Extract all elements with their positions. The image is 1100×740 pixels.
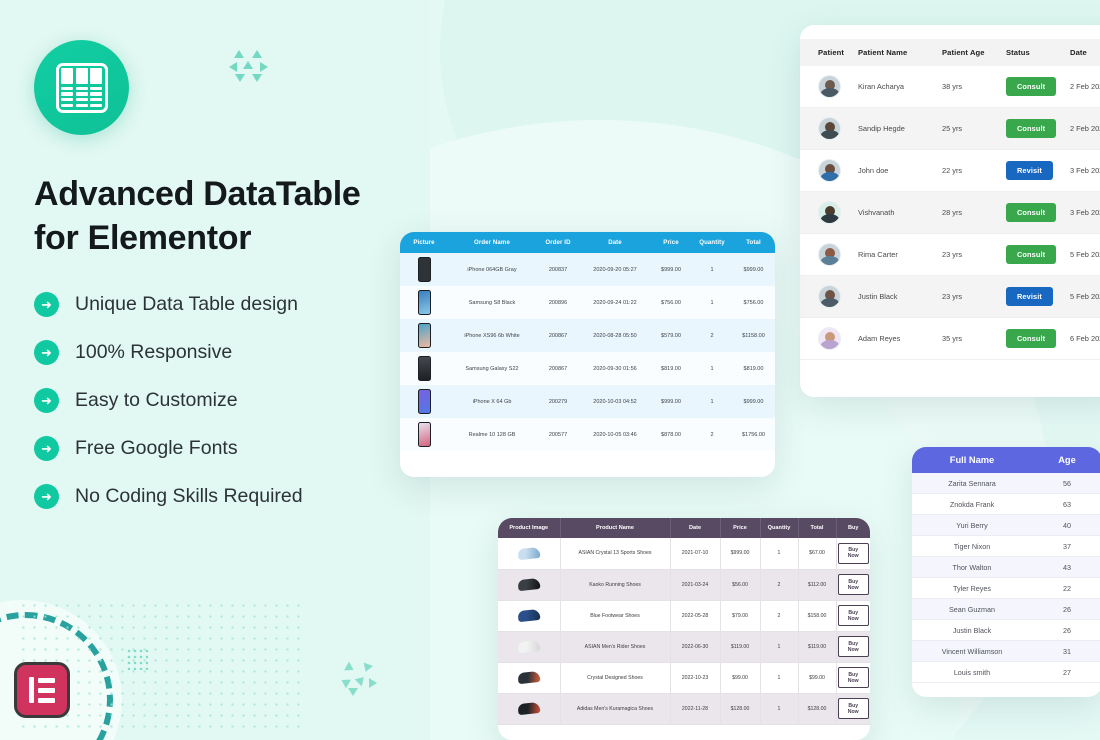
cell-quantity: 1 [760, 662, 798, 693]
cell-price: $999.00 [650, 385, 692, 418]
feature-item-2: ➜ Easy to Customize [34, 388, 454, 413]
cell-product-name: ASIAN Crystal 13 Sports Shoes [560, 538, 670, 569]
feature-label: Free Google Fonts [75, 437, 238, 460]
decorative-sparkle-small [126, 648, 148, 670]
patient-table: Patient Patient Name Patient Age Status … [800, 39, 1100, 360]
cell-total: $1756.00 [732, 418, 775, 451]
cell-quantity: 2 [692, 319, 732, 352]
buy-now-button[interactable]: Buy Now [838, 605, 870, 626]
product-thumbnail [517, 702, 540, 715]
status-badge[interactable]: Consult [1006, 203, 1056, 222]
table-header-row: Full Name Age [912, 447, 1100, 473]
feature-list: ➜ Unique Data Table design ➜ 100% Respon… [34, 292, 454, 509]
cell-age: 43 [1032, 557, 1100, 578]
cell-quantity: 1 [692, 253, 732, 286]
buy-now-button[interactable]: Buy Now [838, 698, 870, 719]
cell-quantity: 1 [760, 631, 798, 662]
avatar [818, 285, 841, 308]
order-table-card: Picture Order Name Order ID Date Price Q… [400, 232, 775, 477]
avatar [818, 327, 841, 350]
col-total: Total [798, 518, 836, 538]
table-row[interactable]: Sandip Hegde 25 yrs Consult 2 Feb 2022 [800, 108, 1100, 150]
cell-full-name: Sean Guzman [912, 599, 1032, 620]
cell-date: 2020-08-28 05:50 [580, 319, 650, 352]
cell-name: Justin Black [858, 276, 942, 318]
table-header-row: Picture Order Name Order ID Date Price Q… [400, 232, 775, 253]
cell-price: $878.00 [650, 418, 692, 451]
cell-total: $819.00 [732, 352, 775, 385]
page-title: Advanced DataTable for Elementor [34, 173, 454, 260]
cell-date: 2020-09-30 01:56 [580, 352, 650, 385]
col-quantity: Quantity [760, 518, 798, 538]
cell-date: 2021-03-24 [670, 569, 720, 600]
table-row[interactable]: Louis smith 27 [912, 662, 1100, 683]
cell-order-id: 200896 [536, 286, 580, 319]
avatar [818, 117, 841, 140]
cell-order-name: iPhone 064GB Gray [448, 253, 536, 286]
cell-price: $128.00 [720, 693, 760, 724]
cell-age: 22 [1032, 578, 1100, 599]
names-table: Full Name Age Zarita Sennara 56 Znokda F… [912, 447, 1100, 683]
col-price: Price [650, 232, 692, 253]
table-row[interactable]: ASIAN Men's Rider Shoes 2022-06-30 $119.… [498, 631, 870, 662]
cell-date: 3 Feb 2022 [1070, 150, 1100, 192]
col-order-id: Order ID [536, 232, 580, 253]
table-row[interactable]: Zarita Sennara 56 [912, 473, 1100, 494]
cell-full-name: Louis smith [912, 662, 1032, 683]
cell-age: 31 [1032, 641, 1100, 662]
cell-order-name: Samsung S8 Black [448, 286, 536, 319]
cell-date: 2 Feb 2022 [1070, 66, 1100, 108]
col-quantity: Quantity [692, 232, 732, 253]
buy-now-button[interactable]: Buy Now [838, 574, 870, 595]
cell-date: 5 Feb 2022 [1070, 276, 1100, 318]
cell-total: $999.00 [732, 385, 775, 418]
cell-quantity: 2 [760, 569, 798, 600]
table-row[interactable]: Samsung S8 Black 200896 2020-09-24 01:22… [400, 286, 775, 319]
cell-date: 2020-09-24 01:22 [580, 286, 650, 319]
table-header-row: Patient Patient Name Patient Age Status … [800, 39, 1100, 66]
cell-name: Kiran Acharya [858, 66, 942, 108]
order-table: Picture Order Name Order ID Date Price Q… [400, 232, 775, 451]
cell-age: 23 yrs [942, 276, 1006, 318]
cell-name: John doe [858, 150, 942, 192]
table-row[interactable]: iPhone 064GB Gray 200837 2020-09-20 05:2… [400, 253, 775, 286]
feature-item-4: ➜ No Coding Skills Required [34, 484, 454, 509]
status-badge[interactable]: Consult [1006, 77, 1056, 96]
cell-product-name: ASIAN Men's Rider Shoes [560, 631, 670, 662]
elementor-logo-icon [14, 662, 70, 718]
product-thumbnail [418, 290, 431, 315]
table-row[interactable]: iPhone X 64 Gb 200279 2020-10-03 04:52 $… [400, 385, 775, 418]
col-total: Total [732, 232, 775, 253]
hero-section: Advanced DataTable for Elementor ➜ Uniqu… [34, 40, 454, 532]
product-thumbnail [418, 356, 431, 381]
product-thumbnail [418, 257, 431, 282]
cell-date: 5 Feb 2022 [1070, 234, 1100, 276]
product-thumbnail [418, 422, 431, 447]
col-buy: Buy [836, 518, 870, 538]
cell-date: 2020-10-03 04:52 [580, 385, 650, 418]
cell-full-name: Znokda Frank [912, 494, 1032, 515]
cell-date: 3 Feb 2022 [1070, 192, 1100, 234]
table-row[interactable]: Kiran Acharya 38 yrs Consult 2 Feb 2022 [800, 66, 1100, 108]
table-row[interactable]: Vincent Williamson 31 [912, 641, 1100, 662]
cell-quantity: 1 [692, 286, 732, 319]
status-badge[interactable]: Revisit [1006, 161, 1053, 180]
product-thumbnail [517, 609, 540, 622]
cell-order-name: iPhone X 64 Gb [448, 385, 536, 418]
col-date: Date [670, 518, 720, 538]
cell-product-name: Blue Footwear Shoes [560, 600, 670, 631]
col-date: Date [580, 232, 650, 253]
buy-now-button[interactable]: Buy Now [838, 636, 870, 657]
cell-date: 6 Feb 2022 [1070, 318, 1100, 360]
cell-full-name: Vincent Williamson [912, 641, 1032, 662]
cell-full-name: Tiger Nixon [912, 536, 1032, 557]
table-row[interactable]: Thor Walton 43 [912, 557, 1100, 578]
product-thumbnail [517, 640, 540, 653]
buy-now-button[interactable]: Buy Now [838, 543, 870, 564]
cell-date: 2021-07-10 [670, 538, 720, 569]
arrow-right-circle-icon: ➜ [34, 388, 59, 413]
col-picture: Picture [400, 232, 448, 253]
status-badge[interactable]: Revisit [1006, 287, 1053, 306]
cell-total: $128.00 [798, 693, 836, 724]
cell-date: 2022-06-30 [670, 631, 720, 662]
cell-total: $112.00 [798, 569, 836, 600]
arrow-right-circle-icon: ➜ [34, 436, 59, 461]
cell-full-name: Yuri Berry [912, 515, 1032, 536]
cell-age: 63 [1032, 494, 1100, 515]
cell-total: $158.00 [798, 600, 836, 631]
cell-age: 38 yrs [942, 66, 1006, 108]
table-row[interactable]: Sean Guzman 26 [912, 599, 1100, 620]
table-row[interactable]: Samsung Galaxy S22 200867 2020-09-30 01:… [400, 352, 775, 385]
cell-name: Rima Carter [858, 234, 942, 276]
arrow-right-circle-icon: ➜ [34, 292, 59, 317]
cell-price: $119.00 [720, 631, 760, 662]
table-row[interactable]: Tiger Nixon 37 [912, 536, 1100, 557]
cell-age: 25 yrs [942, 108, 1006, 150]
cell-date: 2022-10-23 [670, 662, 720, 693]
cell-age: 56 [1032, 473, 1100, 494]
patient-table-card: Patient Patient Name Patient Age Status … [800, 25, 1100, 397]
cell-quantity: 1 [760, 693, 798, 724]
cell-product-name: Crystal Designed Shoes [560, 662, 670, 693]
buy-now-button[interactable]: Buy Now [838, 667, 870, 688]
decorative-triangle-cluster-bottom [340, 664, 380, 698]
table-row[interactable]: Znokda Frank 63 [912, 494, 1100, 515]
cell-quantity: 1 [760, 538, 798, 569]
col-order-name: Order Name [448, 232, 536, 253]
table-row[interactable]: Tyler Reyes 22 [912, 578, 1100, 599]
table-row[interactable]: Yuri Berry 40 [912, 515, 1100, 536]
page-title-line-1: Advanced DataTable [34, 173, 454, 217]
cell-date: 2020-09-20 05:27 [580, 253, 650, 286]
cell-quantity: 1 [692, 385, 732, 418]
avatar [818, 75, 841, 98]
table-header-row: Product Image Product Name Date Price Qu… [498, 518, 870, 538]
col-status: Status [1006, 39, 1070, 66]
cell-order-name: Samsung Galaxy S22 [448, 352, 536, 385]
feature-label: Easy to Customize [75, 389, 238, 412]
table-row[interactable]: Vishvanath 28 yrs Consult 3 Feb 2022 [800, 192, 1100, 234]
feature-item-0: ➜ Unique Data Table design [34, 292, 454, 317]
cell-price: $756.00 [650, 286, 692, 319]
cell-name: Vishvanath [858, 192, 942, 234]
table-grid-icon [56, 63, 108, 113]
cell-full-name: Zarita Sennara [912, 473, 1032, 494]
col-patient-name: Patient Name [858, 39, 942, 66]
cell-age: 27 [1032, 662, 1100, 683]
table-row[interactable]: Rima Carter 23 yrs Consult 5 Feb 2022 [800, 234, 1100, 276]
patient-table-body: Kiran Acharya 38 yrs Consult 2 Feb 2022 … [800, 66, 1100, 360]
product-thumbnail [517, 578, 540, 591]
cell-date: 2022-11-28 [670, 693, 720, 724]
cell-order-id: 200867 [536, 352, 580, 385]
cell-age: 37 [1032, 536, 1100, 557]
cell-product-name: Adidas Men's Kuramagica Shoes [560, 693, 670, 724]
table-row[interactable]: iPhone XS96 6b White 200867 2020-08-28 0… [400, 319, 775, 352]
product-table-body: ASIAN Crystal 13 Sports Shoes 2021-07-10… [498, 538, 870, 724]
cell-order-name: iPhone XS96 6b White [448, 319, 536, 352]
arrow-right-circle-icon: ➜ [34, 340, 59, 365]
status-badge[interactable]: Consult [1006, 245, 1056, 264]
col-date: Date [1070, 39, 1100, 66]
cell-total: $99.00 [798, 662, 836, 693]
col-price: Price [720, 518, 760, 538]
cell-age: 22 yrs [942, 150, 1006, 192]
table-row[interactable]: Adidas Men's Kuramagica Shoes 2022-11-28… [498, 693, 870, 724]
feature-label: No Coding Skills Required [75, 485, 303, 508]
cell-age: 40 [1032, 515, 1100, 536]
product-table-card: Product Image Product Name Date Price Qu… [498, 518, 870, 740]
table-row[interactable]: ASIAN Crystal 13 Sports Shoes 2021-07-10… [498, 538, 870, 569]
cell-order-id: 200577 [536, 418, 580, 451]
cell-age: 23 yrs [942, 234, 1006, 276]
cell-total: $1158.00 [732, 319, 775, 352]
avatar [818, 201, 841, 224]
cell-date: 2 Feb 2022 [1070, 108, 1100, 150]
product-thumbnail [418, 323, 431, 348]
feature-item-1: ➜ 100% Responsive [34, 340, 454, 365]
table-row[interactable]: Blue Footwear Shoes 2022-05-28 $79.00 2 … [498, 600, 870, 631]
product-thumbnail [517, 547, 540, 560]
product-table: Product Image Product Name Date Price Qu… [498, 518, 870, 725]
col-full-name: Full Name [912, 447, 1032, 473]
cell-price: $819.00 [650, 352, 692, 385]
col-age: Age [1032, 447, 1100, 473]
cell-price: $999.00 [720, 538, 760, 569]
cell-full-name: Justin Black [912, 620, 1032, 641]
product-thumbnail [517, 671, 540, 684]
feature-item-3: ➜ Free Google Fonts [34, 436, 454, 461]
cell-quantity: 2 [760, 600, 798, 631]
avatar [818, 243, 841, 266]
cell-product-name: Kaoko Running Shoes [560, 569, 670, 600]
product-logo [34, 40, 129, 135]
table-row[interactable]: John doe 22 yrs Revisit 3 Feb 2022 [800, 150, 1100, 192]
cell-date: 2022-05-28 [670, 600, 720, 631]
cell-order-id: 200279 [536, 385, 580, 418]
cell-full-name: Tyler Reyes [912, 578, 1032, 599]
cell-name: Adam Reyes [858, 318, 942, 360]
cell-price: $56.00 [720, 569, 760, 600]
col-product-image: Product Image [498, 518, 560, 538]
table-row[interactable]: Kaoko Running Shoes 2021-03-24 $56.00 2 … [498, 569, 870, 600]
table-row[interactable]: Justin Black 26 [912, 620, 1100, 641]
page-title-line-2: for Elementor [34, 217, 454, 261]
cell-price: $999.00 [650, 253, 692, 286]
cell-full-name: Thor Walton [912, 557, 1032, 578]
cell-age: 35 yrs [942, 318, 1006, 360]
cell-age: 28 yrs [942, 192, 1006, 234]
col-patient: Patient [800, 39, 858, 66]
cell-total: $67.00 [798, 538, 836, 569]
cell-price: $99.00 [720, 662, 760, 693]
status-badge[interactable]: Consult [1006, 329, 1056, 348]
cell-total: $756.00 [732, 286, 775, 319]
cell-price: $79.00 [720, 600, 760, 631]
table-row[interactable]: Adam Reyes 35 yrs Consult 6 Feb 2022 [800, 318, 1100, 360]
product-thumbnail [418, 389, 431, 414]
cell-total: $119.00 [798, 631, 836, 662]
avatar [818, 159, 841, 182]
table-row[interactable]: Realme 10 128 GB 200577 2020-10-05 03:46… [400, 418, 775, 451]
cell-age: 26 [1032, 620, 1100, 641]
arrow-right-circle-icon: ➜ [34, 484, 59, 509]
cell-age: 26 [1032, 599, 1100, 620]
names-table-body: Zarita Sennara 56 Znokda Frank 63 Yuri B… [912, 473, 1100, 683]
cell-price: $579.00 [650, 319, 692, 352]
cell-quantity: 1 [692, 352, 732, 385]
cell-name: Sandip Hegde [858, 108, 942, 150]
order-table-body: iPhone 064GB Gray 200837 2020-09-20 05:2… [400, 253, 775, 451]
table-row[interactable]: Crystal Designed Shoes 2022-10-23 $99.00… [498, 662, 870, 693]
feature-label: 100% Responsive [75, 341, 232, 364]
cell-date: 2020-10-05 03:46 [580, 418, 650, 451]
col-patient-age: Patient Age [942, 39, 1006, 66]
cell-order-id: 200867 [536, 319, 580, 352]
col-product-name: Product Name [560, 518, 670, 538]
names-table-card: Full Name Age Zarita Sennara 56 Znokda F… [912, 447, 1100, 697]
cell-quantity: 2 [692, 418, 732, 451]
cell-total: $999.00 [732, 253, 775, 286]
table-row[interactable]: Justin Black 23 yrs Revisit 5 Feb 2022 [800, 276, 1100, 318]
feature-label: Unique Data Table design [75, 293, 298, 316]
status-badge[interactable]: Consult [1006, 119, 1056, 138]
cell-order-id: 200837 [536, 253, 580, 286]
cell-order-name: Realme 10 128 GB [448, 418, 536, 451]
